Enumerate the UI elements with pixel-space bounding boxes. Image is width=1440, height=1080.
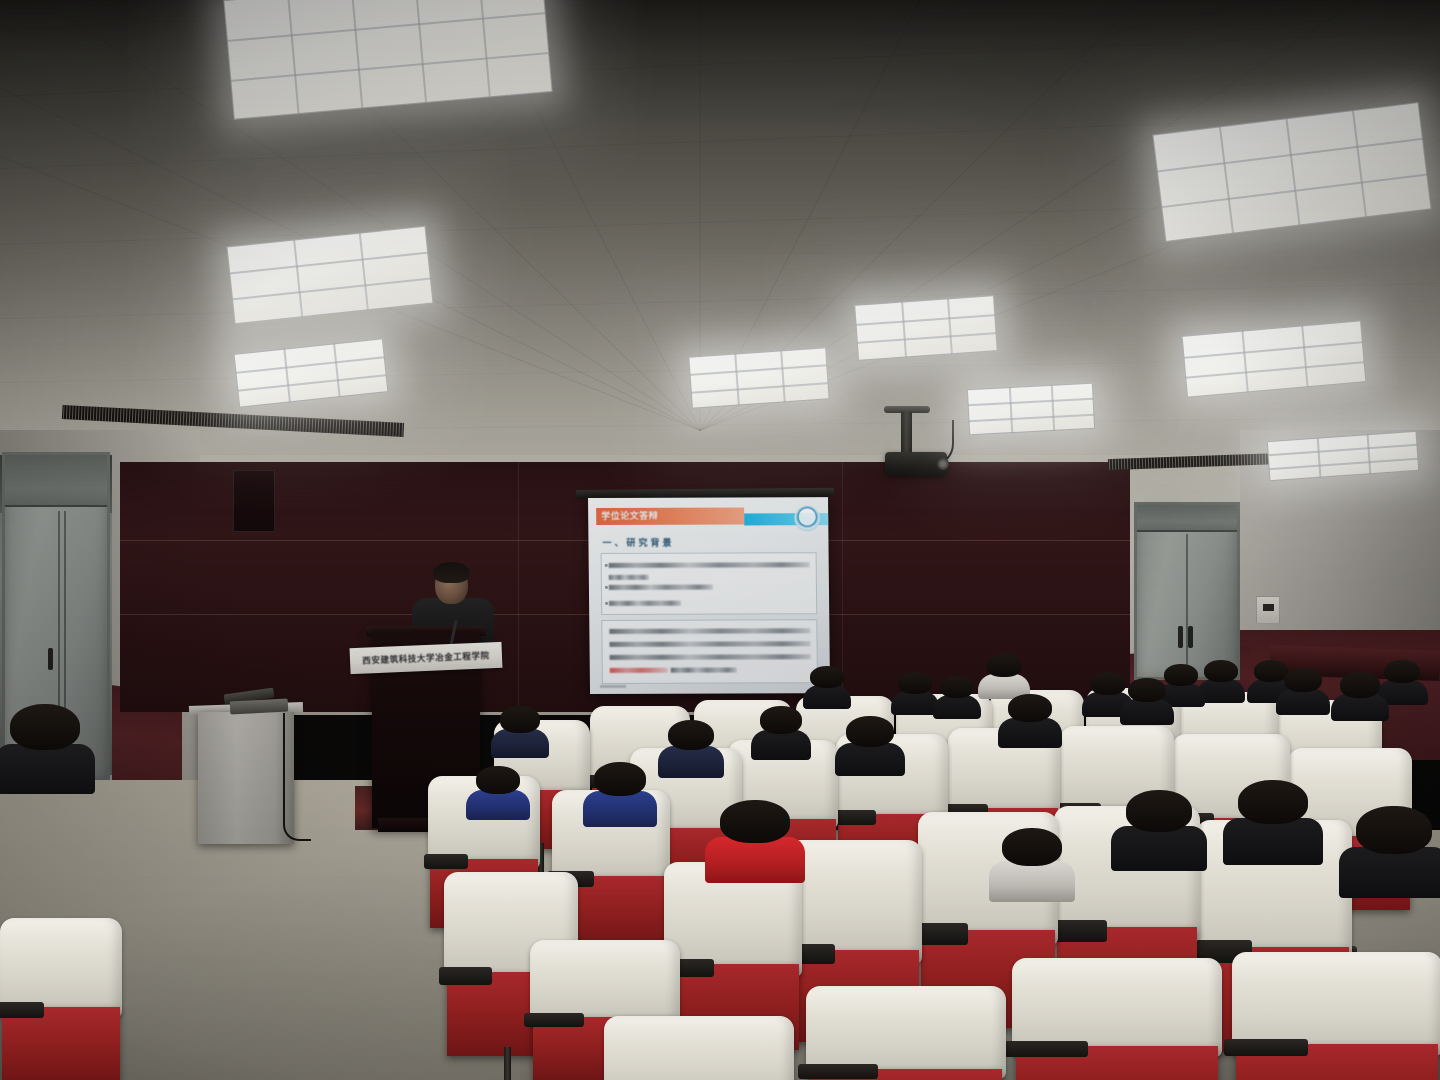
person-head — [898, 672, 932, 694]
vent-slat — [207, 413, 209, 427]
audience-member — [1090, 672, 1126, 712]
slide-text-line — [610, 641, 811, 647]
vent-slat — [225, 414, 227, 428]
audience-member — [940, 676, 974, 714]
vent-slat — [189, 412, 191, 426]
person-head — [1126, 790, 1192, 832]
vent-slat — [165, 410, 167, 424]
vent-slat — [344, 420, 346, 434]
vent-slat — [111, 408, 113, 422]
ceiling-light-5 — [854, 295, 998, 361]
vent-slat — [1181, 457, 1182, 468]
vent-slat — [234, 414, 236, 428]
vent-slat — [99, 407, 101, 421]
vent-slat — [303, 418, 305, 432]
vent-slat — [195, 412, 197, 426]
vent-slat — [318, 418, 320, 432]
slide-text-line — [671, 667, 737, 672]
vent-slat — [180, 411, 182, 425]
person-torso — [803, 685, 852, 709]
presenter-hair — [433, 562, 470, 583]
vent-slat — [377, 422, 379, 436]
vent-slat — [1229, 455, 1230, 466]
person-torso — [835, 743, 904, 776]
projection-screen: 学位论文答辩 一、研究背景 — [588, 497, 830, 694]
vent-slat — [1211, 455, 1212, 466]
vent-slat — [1244, 454, 1245, 465]
vent-slat — [216, 413, 218, 427]
person-head — [940, 676, 974, 698]
audience-member — [10, 704, 80, 784]
vent-slat — [135, 409, 137, 423]
projector-lens — [937, 458, 949, 470]
person-torso — [0, 744, 95, 794]
slide-highlight-text — [610, 668, 668, 673]
vent-slat — [81, 406, 83, 420]
person-torso — [998, 718, 1061, 748]
vent-slat — [186, 412, 188, 426]
vent-slat — [201, 412, 203, 426]
vent-slat — [1187, 456, 1188, 467]
vent-slat — [395, 423, 397, 437]
person-head — [594, 762, 646, 796]
vent-slat — [249, 415, 251, 429]
vent-slat — [1235, 455, 1236, 466]
vent-slat — [261, 415, 263, 429]
vent-slat — [105, 407, 107, 421]
vent-slat — [219, 413, 221, 427]
vent-slat — [1160, 457, 1161, 468]
vent-slat — [174, 411, 176, 425]
vent-slat — [350, 420, 352, 434]
vent-slat — [1196, 456, 1197, 467]
vent-slat — [192, 412, 194, 426]
person-head — [986, 654, 1022, 677]
vent-slat — [356, 420, 358, 434]
light-rim — [967, 383, 1095, 436]
slide-bullet — [605, 586, 608, 589]
vent-slat — [252, 415, 254, 429]
ceiling-tile-row — [0, 283, 1440, 319]
vent-slat — [171, 411, 173, 425]
vent-slat — [267, 416, 269, 430]
slide-content-box-upper — [601, 552, 818, 615]
vent-slat — [291, 417, 293, 431]
vent-slat — [1238, 455, 1239, 466]
vent-slat — [66, 405, 68, 419]
vent-slat — [273, 416, 275, 430]
person-head — [1356, 806, 1432, 854]
slide-bullet — [605, 602, 608, 605]
seat-backrest — [604, 1016, 794, 1080]
slide-footer-mark — [600, 685, 626, 688]
vent-slat — [312, 418, 314, 432]
vent-slat — [1169, 457, 1170, 468]
vent-slat — [1115, 459, 1116, 470]
seat-side-panel — [2, 1007, 119, 1080]
vent-slat — [63, 405, 65, 419]
vent-slat — [327, 419, 329, 433]
vent-slat — [1265, 454, 1266, 465]
person-head — [1238, 780, 1308, 824]
vent-slat — [315, 418, 317, 432]
person-torso — [491, 729, 549, 758]
audience-member — [986, 654, 1022, 694]
person-torso — [658, 746, 724, 778]
person-head — [760, 706, 802, 734]
vent-slat — [383, 422, 385, 436]
vent-slat — [359, 421, 361, 435]
vent-slat — [353, 420, 355, 434]
auditorium-seat[interactable] — [1232, 952, 1440, 1080]
vent-slat — [330, 419, 332, 433]
vent-slat — [177, 411, 179, 425]
seat-armrest[interactable] — [1224, 1039, 1308, 1056]
person-head — [668, 720, 714, 750]
audience-member — [1384, 660, 1420, 700]
vent-slat — [243, 415, 245, 429]
vent-slat — [84, 406, 86, 420]
audience-member — [1002, 828, 1062, 894]
audience-member — [1204, 660, 1238, 698]
person-head — [846, 716, 894, 747]
vent-slat — [1208, 456, 1209, 467]
seat-pedestal-leg — [504, 1047, 511, 1080]
vent-slat — [380, 422, 382, 436]
seat-armrest[interactable] — [439, 967, 493, 985]
slide-text-line — [609, 575, 649, 580]
vent-slat — [362, 421, 364, 435]
vent-slat — [87, 406, 89, 420]
audience-member — [1284, 668, 1322, 710]
vent-slat — [1259, 454, 1260, 465]
vent-slat — [285, 417, 287, 431]
vent-slat — [69, 405, 71, 419]
vent-slat — [198, 412, 200, 426]
person-head — [1164, 664, 1198, 686]
vent-slat — [398, 423, 400, 437]
vent-slat — [392, 422, 394, 436]
vent-slat — [1145, 458, 1146, 469]
person-torso — [751, 730, 811, 760]
panel-seam-v — [518, 462, 519, 712]
vent-slat — [264, 416, 266, 430]
vent-slat — [1127, 458, 1128, 469]
vent-slat — [1118, 459, 1119, 470]
vent-slat — [282, 417, 284, 431]
vent-slat — [246, 415, 248, 429]
auditorium-seat[interactable] — [1012, 958, 1222, 1080]
person-head — [1008, 694, 1052, 722]
vent-slat — [183, 411, 185, 425]
vent-slat — [1223, 455, 1224, 466]
slide-text-line — [609, 601, 681, 606]
vent-slat — [279, 416, 281, 430]
audience-member — [668, 720, 714, 772]
slide-text-line — [610, 654, 811, 660]
door-right[interactable] — [1134, 502, 1240, 680]
slide-text-line — [609, 628, 810, 634]
auditorium-seat[interactable] — [806, 986, 1006, 1080]
person-head — [1128, 678, 1166, 702]
vent-slat — [129, 409, 131, 423]
vent-slat — [386, 422, 388, 436]
audience-member — [1340, 672, 1380, 716]
seat-armrest[interactable] — [0, 1002, 44, 1018]
vent-slat — [132, 409, 134, 423]
vent-slat — [347, 420, 349, 434]
person-torso — [705, 837, 806, 883]
person-head — [720, 800, 790, 843]
vent-slat — [1139, 458, 1140, 469]
slide-text-line — [609, 585, 713, 590]
person-head — [1254, 660, 1288, 682]
vent-slat — [75, 406, 77, 420]
vent-slat — [1130, 458, 1131, 469]
audience-member — [720, 800, 790, 874]
vent-slat — [93, 407, 95, 421]
vent-slat — [1262, 454, 1263, 465]
vent-slat — [294, 417, 296, 431]
vent-slat — [1247, 454, 1248, 465]
person-head — [500, 706, 540, 733]
ceiling-tile-row — [0, 0, 1438, 31]
vent-slat — [258, 415, 260, 429]
vent-slat — [168, 411, 170, 425]
vent-slat — [306, 418, 308, 432]
light-rim — [688, 347, 829, 408]
vent-slat — [237, 414, 239, 428]
vent-slat — [126, 408, 128, 422]
slide-text-line — [609, 562, 810, 568]
audience-member — [1356, 806, 1432, 888]
audience-member — [810, 666, 844, 704]
person-torso — [1331, 694, 1389, 721]
vent-slat — [1136, 458, 1137, 469]
vent-slat — [324, 419, 326, 433]
vent-slat — [1175, 457, 1176, 468]
person-torso — [989, 861, 1075, 902]
vent-slat — [108, 407, 110, 421]
vent-slat — [374, 421, 376, 435]
vent-slat — [153, 410, 155, 424]
vent-slat — [300, 418, 302, 432]
person-head — [476, 766, 520, 794]
vent-slat — [1232, 455, 1233, 466]
vent-slat — [1109, 459, 1110, 470]
slide-content-box-lower — [601, 619, 818, 684]
vent-slat — [1193, 456, 1194, 467]
vent-slat — [96, 407, 98, 421]
wall-notice-sign — [1256, 596, 1280, 624]
vent-slat — [156, 410, 158, 424]
audience-member — [1238, 780, 1308, 856]
vent-slat — [338, 420, 340, 434]
person-torso — [1223, 818, 1324, 865]
seat-armrest[interactable] — [524, 1013, 584, 1027]
person-torso — [583, 791, 658, 827]
audience-member — [476, 766, 520, 814]
person-head — [1384, 660, 1420, 683]
audience-member — [1008, 694, 1052, 742]
vent-slat — [150, 410, 152, 424]
person-torso — [933, 695, 982, 719]
vent-slat — [1241, 454, 1242, 465]
audience-member — [500, 706, 540, 752]
person-head — [1340, 672, 1380, 698]
vent-slat — [1124, 459, 1125, 470]
av-equipment-cabinet — [198, 712, 294, 844]
seat-armrest[interactable] — [424, 854, 469, 869]
slide-section-heading: 一、研究背景 — [602, 536, 674, 549]
vent-slat — [210, 413, 212, 427]
vent-slat — [1112, 459, 1113, 470]
person-head — [1002, 828, 1062, 866]
vent-slat — [141, 409, 143, 423]
vent-slat — [1166, 457, 1167, 468]
vent-slat — [321, 419, 323, 433]
audience-member — [846, 716, 894, 770]
vent-slat — [114, 408, 116, 422]
vent-slat — [401, 423, 403, 437]
vent-slat — [341, 420, 343, 434]
vent-slat — [138, 409, 140, 423]
vent-slat — [1154, 457, 1155, 468]
vent-slat — [159, 410, 161, 424]
seat-armrest[interactable] — [798, 1064, 878, 1079]
vent-slat — [1205, 456, 1206, 467]
vent-slat — [162, 410, 164, 424]
vent-slat — [1133, 458, 1134, 469]
vent-slat — [276, 416, 278, 430]
person-head — [1090, 672, 1126, 695]
person-torso — [1111, 826, 1206, 871]
seat-armrest[interactable] — [1004, 1041, 1088, 1057]
vent-slat — [1256, 454, 1257, 465]
vent-slat — [371, 421, 373, 435]
person-torso — [1120, 699, 1175, 725]
vent-slat — [309, 418, 311, 432]
person-torso — [1276, 689, 1331, 715]
vent-slat — [1142, 458, 1143, 469]
vent-slat — [389, 422, 391, 436]
seat-armrest[interactable] — [832, 810, 877, 825]
person-head — [1284, 668, 1322, 692]
vent-slat — [102, 407, 104, 421]
vent-slat — [1172, 457, 1173, 468]
slide-title-banner: 学位论文答辩 — [596, 507, 744, 525]
vent-slat — [1226, 455, 1227, 466]
vent-slat — [123, 408, 125, 422]
vent-slat — [332, 419, 334, 433]
vent-slat — [368, 421, 370, 435]
vent-slat — [1178, 457, 1179, 468]
vent-slat — [1157, 457, 1158, 468]
vent-slat — [231, 414, 233, 428]
audience-member — [1164, 664, 1198, 702]
vent-slat — [1184, 456, 1185, 467]
vent-slat — [1199, 456, 1200, 467]
vent-slat — [228, 414, 230, 428]
vent-slat — [78, 406, 80, 420]
vent-slat — [72, 406, 74, 420]
person-head — [10, 704, 80, 750]
person-head — [1204, 660, 1238, 682]
vent-slat — [1190, 456, 1191, 467]
vent-slat — [1214, 455, 1215, 466]
cabinet-cable — [283, 713, 311, 841]
university-crest-logo-icon — [794, 505, 820, 531]
vent-slat — [1253, 454, 1254, 465]
vent-slat — [297, 417, 299, 431]
vent-slat — [90, 407, 92, 421]
vent-slat — [1217, 455, 1218, 466]
slide-bullet — [605, 564, 608, 567]
vent-slat — [288, 417, 290, 431]
audience-member — [898, 672, 932, 710]
vent-slat — [204, 412, 206, 426]
vent-slat — [222, 413, 224, 427]
auditorium-seat[interactable] — [0, 918, 122, 1080]
auditorium-seat[interactable] — [604, 1016, 794, 1080]
person-head — [810, 666, 844, 688]
ceiling-light-4 — [688, 347, 829, 408]
vent-slat — [1250, 454, 1251, 465]
vent-slat — [1163, 457, 1164, 468]
vent-slat — [1202, 456, 1203, 467]
vent-slat — [270, 416, 272, 430]
vent-slat — [1121, 459, 1122, 470]
sign-glyph — [1263, 604, 1274, 611]
light-rim — [854, 295, 998, 361]
vent-slat — [213, 413, 215, 427]
vent-slat — [240, 414, 242, 428]
slide-title-text: 学位论文答辩 — [596, 507, 744, 525]
vent-slat — [1220, 455, 1221, 466]
wall-speaker — [233, 470, 275, 532]
vent-slat — [117, 408, 119, 422]
projector-mount-pole — [901, 412, 912, 454]
vent-slat — [120, 408, 122, 422]
vent-slat — [144, 409, 146, 423]
door-frame-right — [1134, 502, 1240, 680]
vent-slat — [1151, 458, 1152, 469]
vent-slat — [365, 421, 367, 435]
vent-slat — [147, 410, 149, 424]
audience-member — [1126, 790, 1192, 862]
audience-member — [594, 762, 646, 820]
ceiling-light-6 — [967, 383, 1095, 436]
vent-slat — [335, 419, 337, 433]
vent-slat — [255, 415, 257, 429]
lecture-hall-photo: 学位论文答辩 一、研究背景 — [0, 0, 1440, 1080]
vent-slat — [1148, 458, 1149, 469]
audience-member — [1128, 678, 1166, 720]
person-torso — [466, 790, 529, 820]
audience-member — [760, 706, 802, 754]
person-torso — [1339, 847, 1440, 898]
